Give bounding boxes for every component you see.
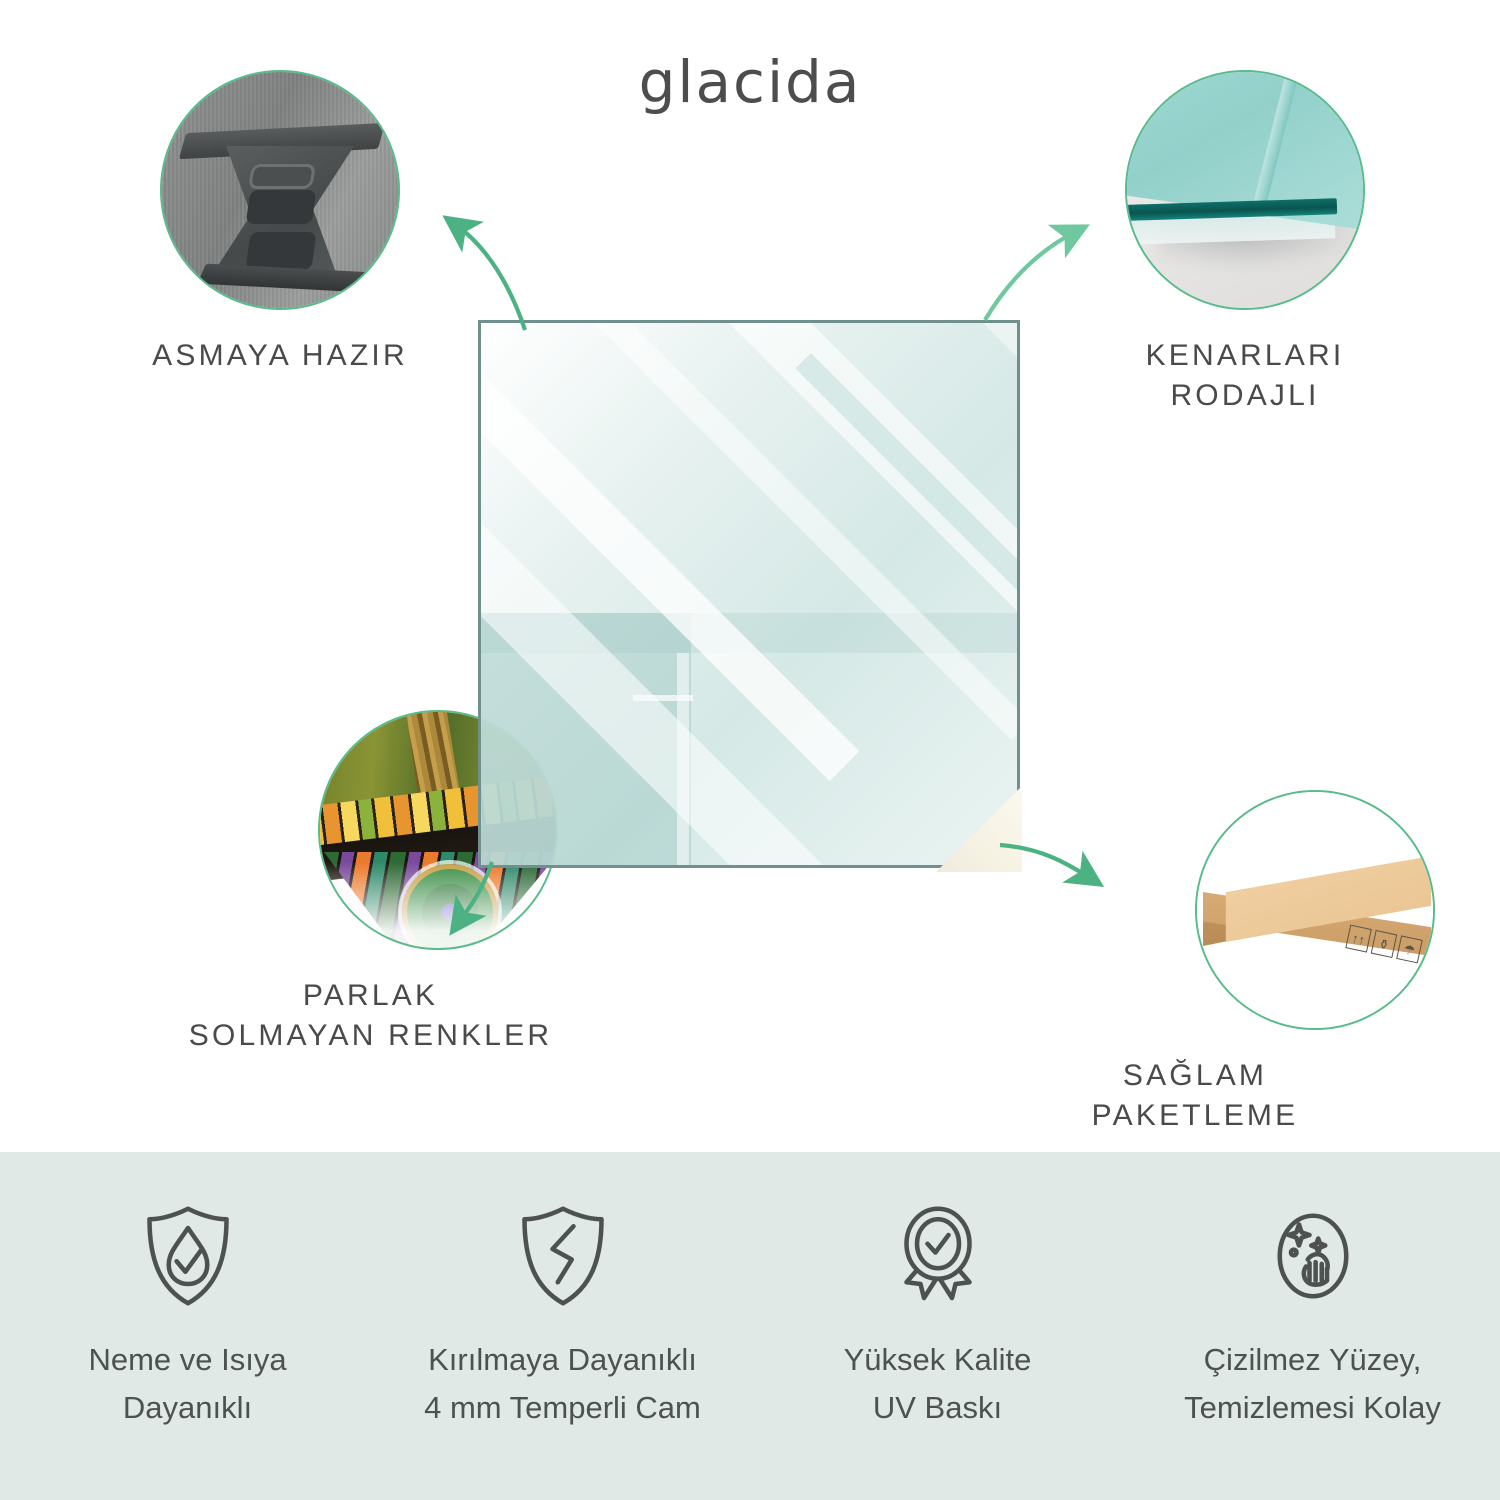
infographic-page: glacida ASMAYA HAZIR: [0, 0, 1500, 1500]
fragile-glass-icon: ⚱: [1371, 930, 1398, 958]
award-ribbon-check-icon: [882, 1200, 994, 1312]
bracket-cutout-upper: [246, 190, 317, 224]
glass-edge-photo: [1127, 72, 1363, 308]
arrow-to-kenarlari-rodajli: [985, 232, 1075, 320]
benefit-yuksek-kalite: Yüksek Kalite UV Baskı: [750, 1152, 1125, 1500]
tempered-glass-panel: [478, 320, 1020, 868]
shield-bolt-icon: [507, 1200, 619, 1312]
bracket-keyhole-slot: [248, 164, 316, 189]
benefit-label-cizilmez-yuzey: Çizilmez Yüzey, Temizlemesi Kolay: [1184, 1336, 1441, 1432]
wall-mount-bracket-image: [160, 70, 400, 310]
feature-image-wrap: [160, 70, 400, 310]
feature-label-kenarlari-rodajli: KENARLARI RODAJLI: [1100, 336, 1390, 415]
benefit-label-neme-ve-isiya-dayanikli: Neme ve Isıya Dayanıklı: [88, 1336, 286, 1432]
keep-dry-icon: ☂: [1396, 935, 1423, 963]
feature-label-saglam-paketleme: SAĞLAM PAKETLEME: [980, 1056, 1410, 1135]
benefit-neme-ve-isiya-dayanikli: Neme ve Isıya Dayanıklı: [0, 1152, 375, 1500]
box-illustration: ↑↑ ⚱ ☂: [1197, 792, 1433, 1028]
feature-label-asmaya-hazir: ASMAYA HAZIR: [145, 336, 415, 376]
shield-water-drop-check-icon: [132, 1200, 244, 1312]
benefits-strip: Neme ve Isıya Dayanıklı Kırılmaya Dayanı…: [0, 1152, 1500, 1500]
feature-image-wrap: [1125, 70, 1365, 310]
cardboard-box-image: ↑↑ ⚱ ☂: [1195, 790, 1435, 1030]
feature-saglam-paketleme: ↑↑ ⚱ ☂ SAĞLAM PAKETLEME: [980, 790, 1410, 1135]
arrow-to-asmaya-hazir: [456, 225, 525, 330]
feature-label-parlak-solmayan-renkler: PARLAK SOLMAYAN RENKLER: [153, 976, 588, 1055]
bracket-cutout-lower: [245, 232, 316, 270]
benefit-kirilmaya-dayanikli: Kırılmaya Dayanıklı 4 mm Temperli Cam: [375, 1152, 750, 1500]
sparkle-wipe-hand-icon: [1257, 1200, 1369, 1312]
benefit-label-yuksek-kalite: Yüksek Kalite UV Baskı: [844, 1336, 1032, 1432]
polished-glass-edge-image: [1125, 70, 1365, 310]
bracket-foot-plate: [198, 264, 373, 293]
bracket-photo: [162, 72, 398, 308]
feature-asmaya-hazir: ASMAYA HAZIR: [145, 70, 415, 376]
mosaic-shadow-fade: [320, 862, 558, 950]
benefit-label-kirilmaya-dayanikli: Kırılmaya Dayanıklı 4 mm Temperli Cam: [424, 1336, 701, 1432]
feature-image-wrap: ↑↑ ⚱ ☂: [1195, 790, 1435, 1030]
benefit-cizilmez-yuzey: Çizilmez Yüzey, Temizlemesi Kolay: [1125, 1152, 1500, 1500]
this-side-up-icon: ↑↑: [1345, 925, 1372, 953]
feature-kenarlari-rodajli: KENARLARI RODAJLI: [1100, 70, 1390, 415]
